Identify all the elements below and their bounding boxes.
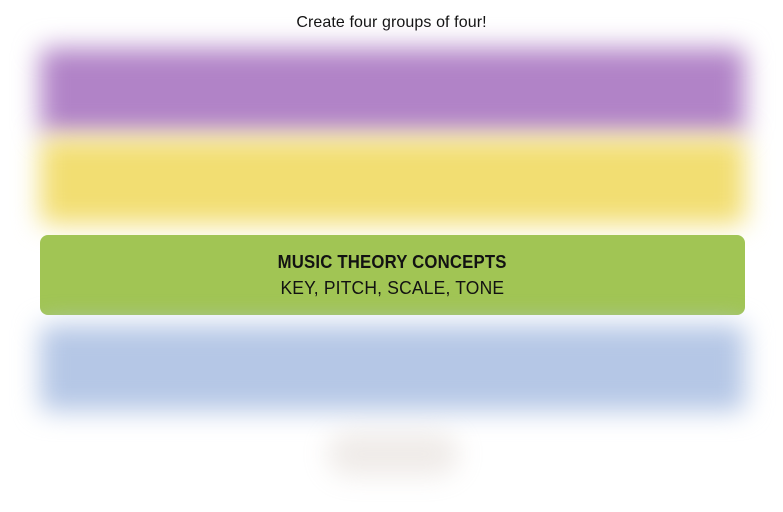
solved-group-yellow — [40, 138, 745, 224]
solved-group-category: MUSIC THEORY CONCEPTS — [278, 250, 507, 274]
solved-group-members: KEY, PITCH, SCALE, TONE — [281, 276, 505, 300]
page-title: Create four groups of four! — [0, 12, 783, 34]
solved-group-green: MUSIC THEORY CONCEPTS KEY, PITCH, SCALE,… — [40, 235, 745, 315]
puzzle-board: MUSIC THEORY CONCEPTS KEY, PITCH, SCALE,… — [40, 44, 745, 504]
solved-group-blue — [40, 325, 745, 411]
connections-game: Create four groups of four! MUSIC THEORY… — [0, 0, 783, 512]
footer-action-button[interactable] — [327, 432, 459, 476]
solved-group-purple — [40, 48, 745, 134]
